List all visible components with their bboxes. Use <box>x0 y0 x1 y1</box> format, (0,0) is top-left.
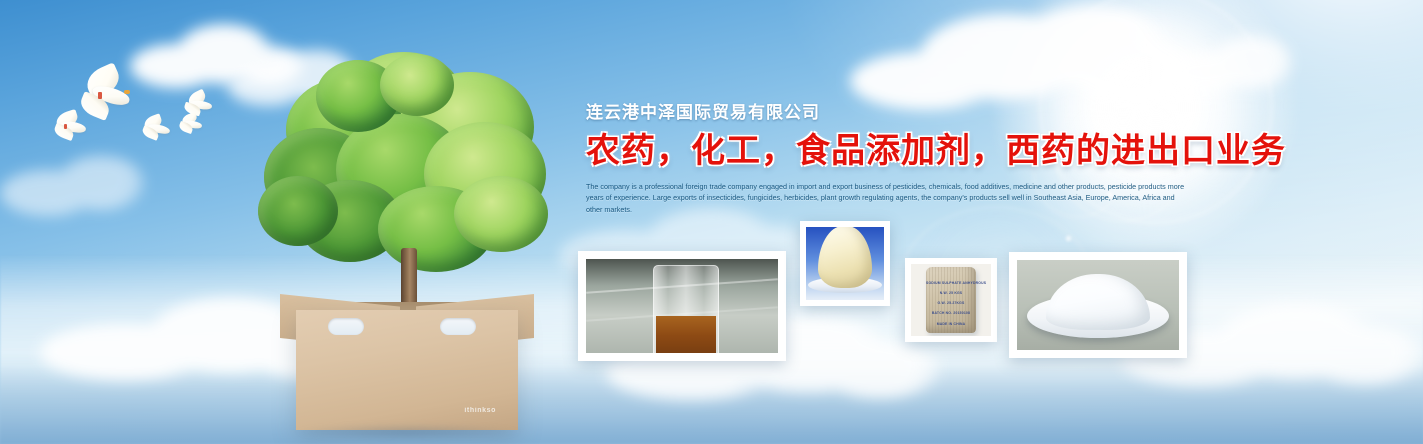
product-photo-oil-sample[interactable] <box>578 251 786 361</box>
woven-packing-bag: SODIUM SULPHATE ANHYDROUS N.W. 25 KGS G.… <box>926 267 976 333</box>
product-image-yellow-powder <box>806 227 884 300</box>
bag-line: G.W. 25.27KGS <box>926 301 976 305</box>
copy-block: 连云港中泽国际贸易有限公司 农药，化工，食品添加剂，西药的进出口业务 The c… <box>586 98 1186 216</box>
product-image-woven-bag: SODIUM SULPHATE ANHYDROUS N.W. 25 KGS G.… <box>911 264 991 336</box>
dove-icon <box>52 112 92 142</box>
amber-liquid <box>656 316 716 353</box>
dove-icon <box>140 116 174 142</box>
bag-line: MADE IN CHINA <box>926 322 976 326</box>
bag-line: BATCH NO. 20150108 <box>926 311 976 315</box>
cloud <box>0 150 150 220</box>
box-handle-cutout <box>440 318 476 335</box>
hero-banner: Natural Day, In Your Urban Story ithinks… <box>0 0 1423 444</box>
yellow-powder-heap <box>818 227 872 288</box>
product-photo-yellow-powder[interactable] <box>800 221 890 306</box>
glass-bottle <box>653 265 719 353</box>
company-description: The company is a professional foreign tr… <box>586 181 1186 216</box>
box-handle-cutout <box>328 318 364 335</box>
product-image-white-powder <box>1017 260 1179 350</box>
bag-line: SODIUM SULPHATE ANHYDROUS <box>926 281 976 285</box>
white-powder-heap <box>1046 274 1150 330</box>
cloud <box>1166 30 1296 94</box>
tree-in-box-illustration: Natural Day, In Your Urban Story ithinks… <box>258 52 558 402</box>
headline: 农药，化工，食品添加剂，西药的进出口业务 <box>586 133 1186 170</box>
product-photo-white-powder[interactable] <box>1009 252 1187 358</box>
box-drop-shadow <box>292 424 524 440</box>
dove-icon <box>178 114 206 134</box>
product-photo-woven-bag[interactable]: SODIUM SULPHATE ANHYDROUS N.W. 25 KGS G.… <box>905 258 997 342</box>
box-logo: ithinkso <box>464 407 496 414</box>
bag-line: N.W. 25 KGS <box>926 291 976 295</box>
product-image-oil-sample <box>586 259 778 353</box>
company-name: 连云港中泽国际贸易有限公司 <box>586 98 1186 123</box>
